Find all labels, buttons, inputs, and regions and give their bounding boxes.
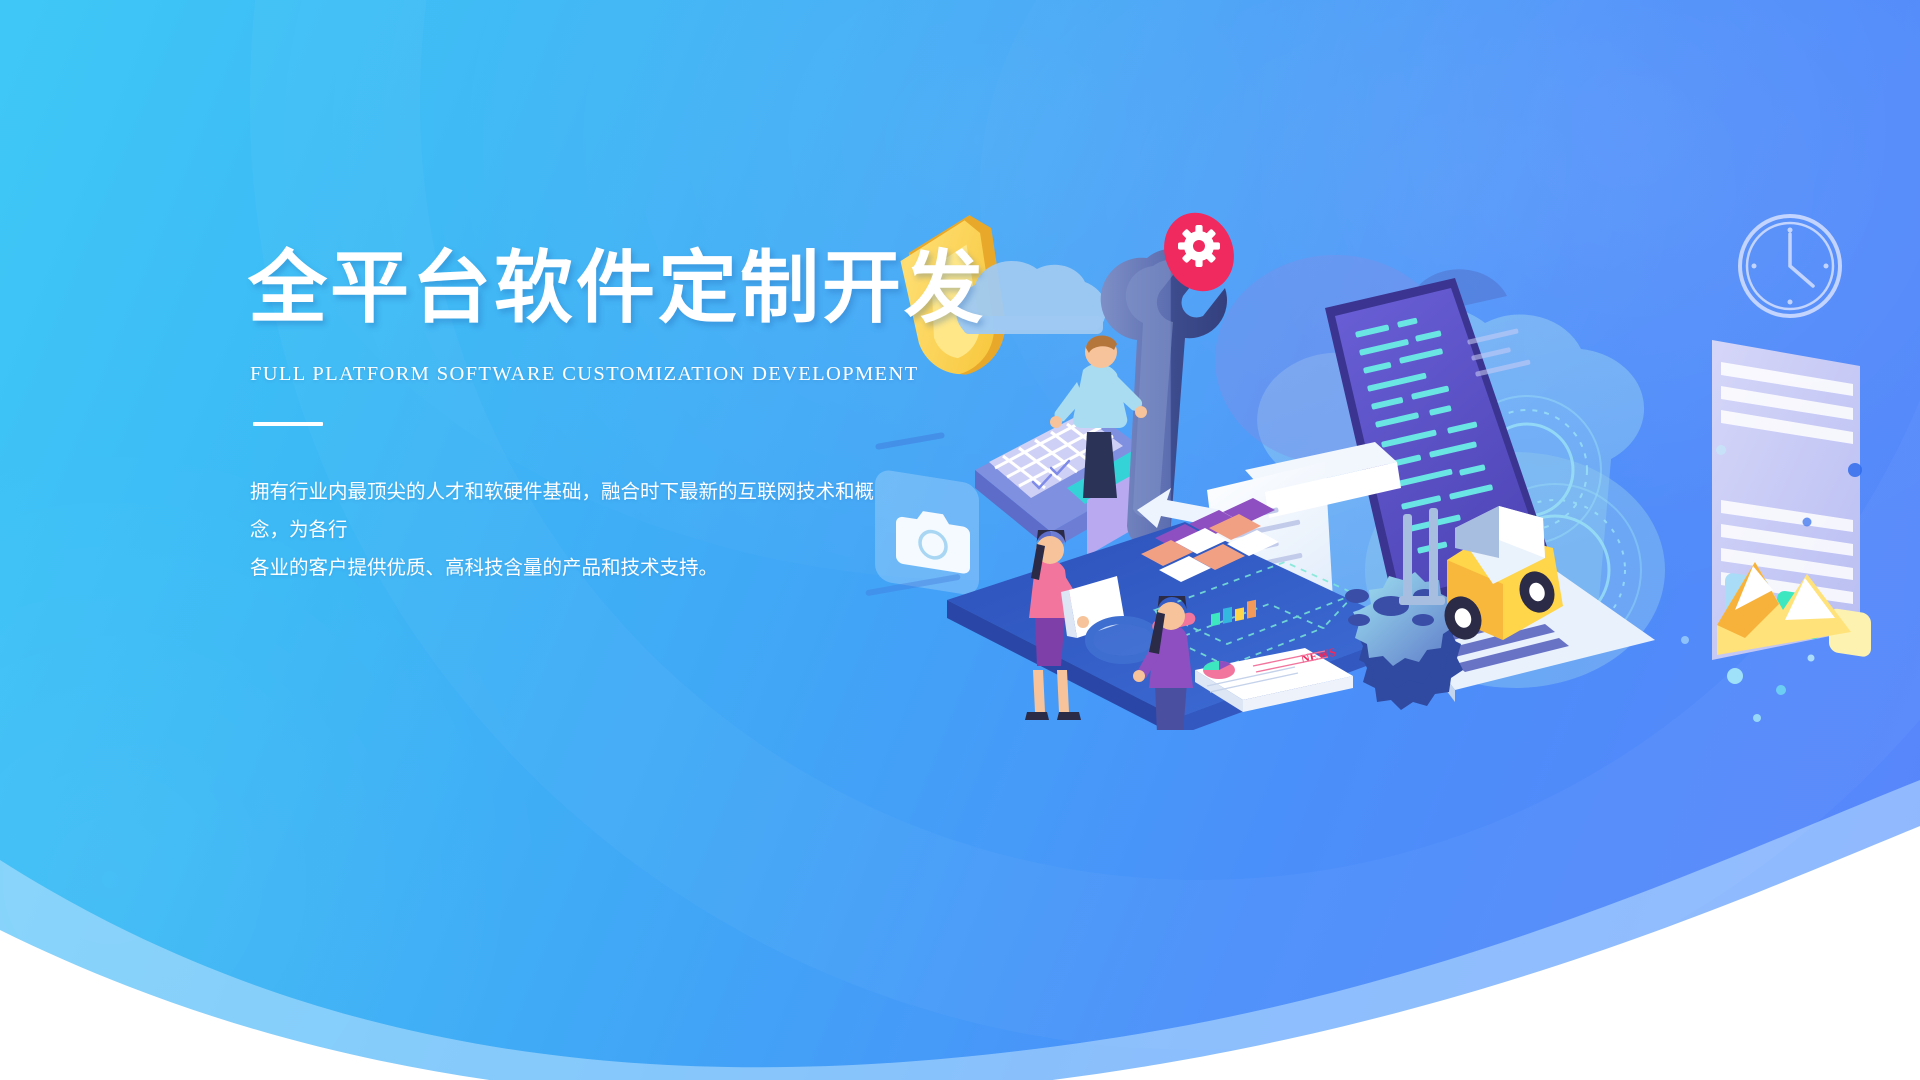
content-panel xyxy=(1712,340,1871,660)
pie-chart-icon xyxy=(1203,661,1235,679)
hero-illustration: NEWS xyxy=(855,170,1920,730)
title-divider xyxy=(253,422,323,426)
page-subtitle: FULL PLATFORM SOFTWARE CUSTOMIZATION DEV… xyxy=(250,363,948,386)
page-title: 全平台软件定制开发 xyxy=(248,248,948,327)
hero-banner: NEWS xyxy=(0,0,1920,1080)
hero-text-block: 全平台软件定制开发 FULL PLATFORM SOFTWARE CUSTOMI… xyxy=(248,248,948,587)
bottom-wave-decoration xyxy=(0,740,1920,1080)
clock-icon xyxy=(1740,216,1840,316)
hero-description-line-2: 各业的客户提供优质、高科技含量的产品和技术支持。 xyxy=(250,557,718,579)
hero-description-line-1: 拥有行业内最顶尖的人才和软硬件基础，融合时下最新的互联网技术和概念，为各行 xyxy=(250,481,874,541)
wave-primary xyxy=(0,826,1920,1080)
hero-description: 拥有行业内最顶尖的人才和软硬件基础，融合时下最新的互联网技术和概念，为各行 各业… xyxy=(250,473,890,587)
